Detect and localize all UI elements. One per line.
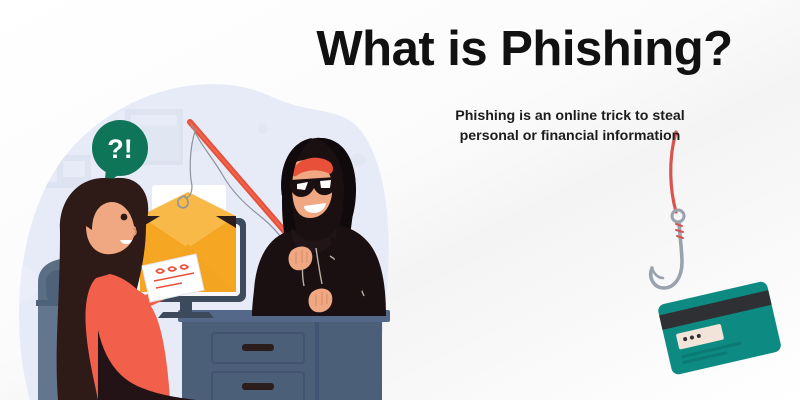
subtitle-line-2: personal or financial information: [430, 126, 710, 146]
subtitle-line-1: Phishing is an online trick to steal: [430, 106, 710, 126]
poster-canvas: ?!: [0, 0, 800, 400]
svg-text:?!: ?!: [107, 134, 132, 164]
page-title: What is Phishing?: [272, 23, 777, 76]
page-subtitle: Phishing is an online trick to steal per…: [430, 106, 710, 146]
desk-with-drawers: [178, 310, 390, 400]
drawer-handle-bottom: [242, 383, 274, 390]
drawer-handle-top: [242, 344, 274, 351]
